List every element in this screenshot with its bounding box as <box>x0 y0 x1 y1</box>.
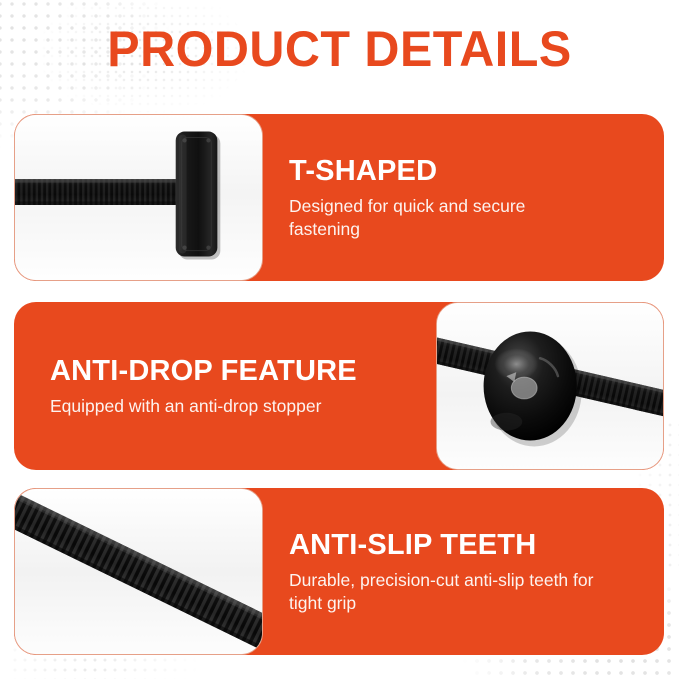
anti-slip-teeth-illustration <box>15 489 262 654</box>
anti-drop-illustration <box>437 303 663 469</box>
anti-drop-stopper-photo <box>436 302 664 470</box>
feature-card-anti-slip-teeth: ANTI-SLIP TEETH Durable, precision-cut a… <box>14 488 664 655</box>
t-shaped-cable-tie-photo <box>14 114 263 281</box>
feature-card-t-shaped: T-SHAPED Designed for quick and secure f… <box>14 114 664 281</box>
feature-description-anti-drop-feature: Equipped with an anti-drop stopper <box>50 395 350 418</box>
t-shaped-illustration <box>15 115 262 280</box>
anti-drop-text-panel: ANTI-DROP FEATURE Equipped with an anti-… <box>14 302 436 470</box>
anti-slip-teeth-photo <box>14 488 263 655</box>
feature-title-t-shaped: T-SHAPED <box>289 155 640 188</box>
page-title: PRODUCT DETAILS <box>10 20 669 78</box>
t-shaped-text-panel: T-SHAPED Designed for quick and secure f… <box>263 114 664 281</box>
feature-description-t-shaped: Designed for quick and secure fastening <box>289 195 599 241</box>
anti-slip-teeth-text-panel: ANTI-SLIP TEETH Durable, precision-cut a… <box>263 488 664 655</box>
feature-title-anti-slip-teeth: ANTI-SLIP TEETH <box>289 529 640 562</box>
feature-title-anti-drop-feature: ANTI-DROP FEATURE <box>50 355 418 388</box>
feature-description-anti-slip-teeth: Durable, precision-cut anti-slip teeth f… <box>289 569 599 615</box>
feature-card-anti-drop-feature: ANTI-DROP FEATURE Equipped with an anti-… <box>14 302 664 470</box>
